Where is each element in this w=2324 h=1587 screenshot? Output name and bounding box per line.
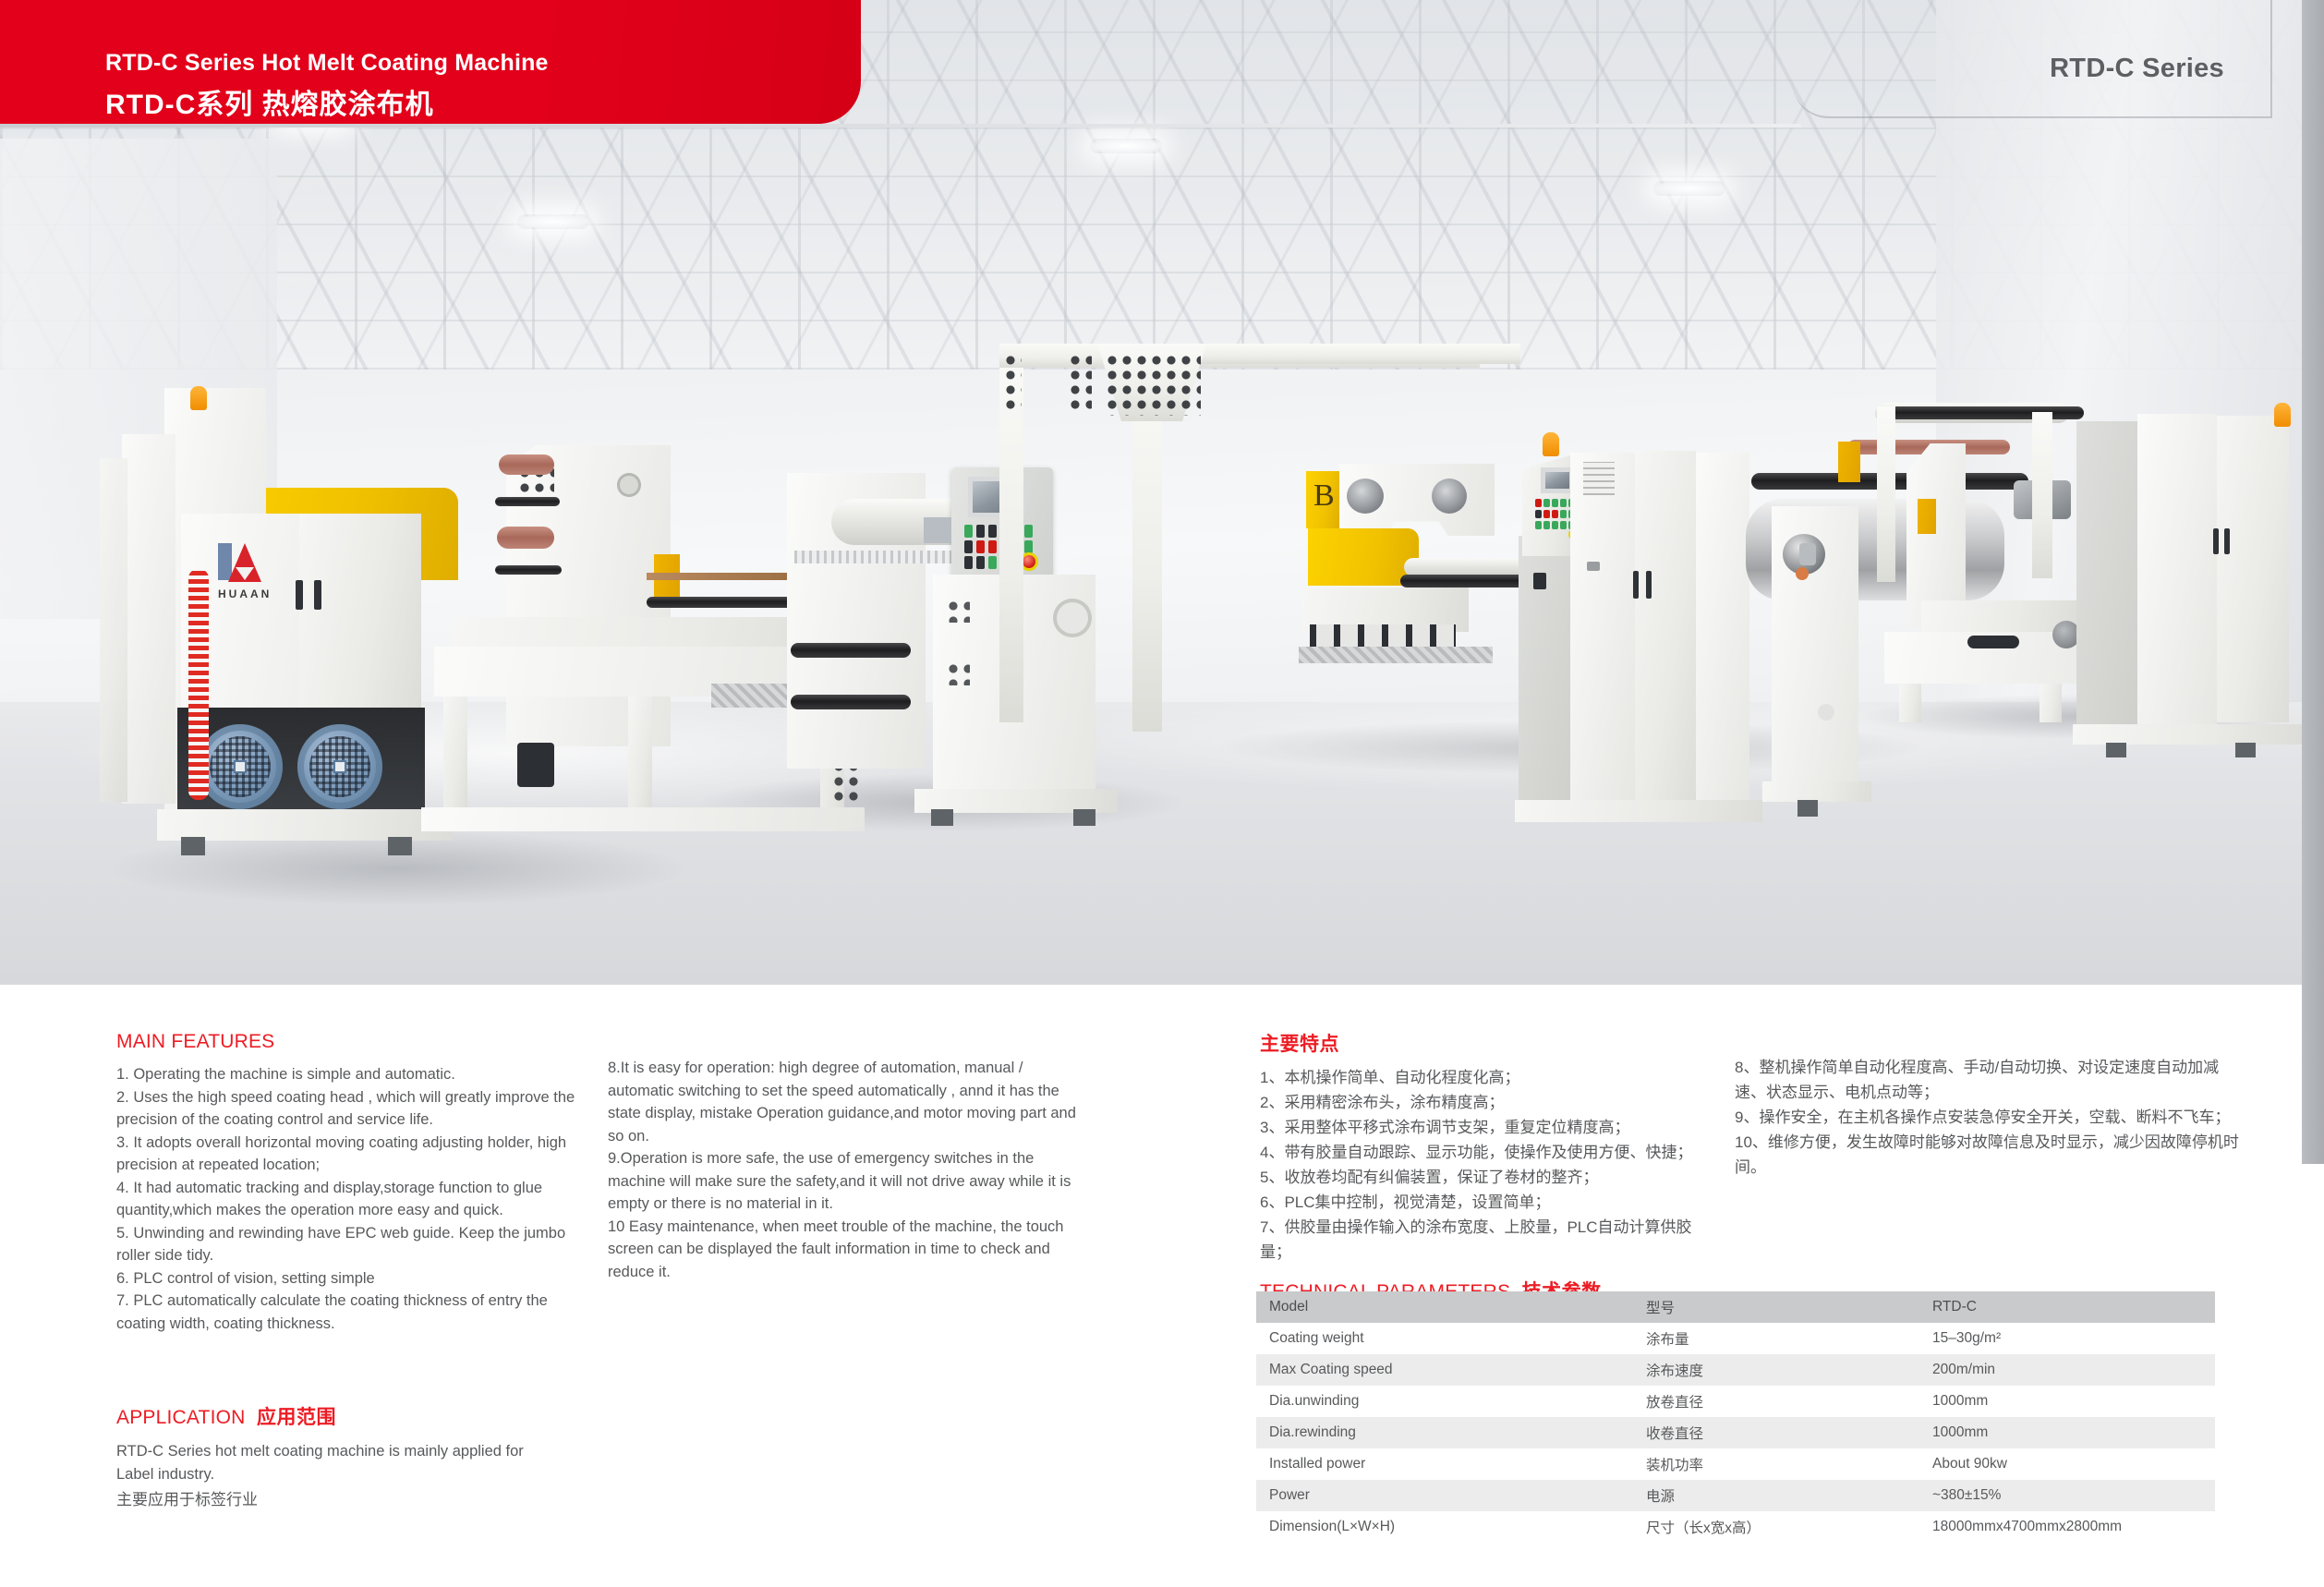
cabinet-button[interactable]	[1543, 499, 1550, 507]
table-cell-label-cn: 型号	[1633, 1291, 1919, 1323]
feature-item: 6. PLC control of vision, setting simple	[116, 1267, 578, 1290]
banner-title-en: RTD-C Series Hot Melt Coating Machine	[105, 50, 549, 77]
base-frame-leg	[1899, 684, 1921, 722]
feature-item-cn: 10、维修方便，发生故障时能够对故障信息及时显示，减少因故障停机时间。	[1735, 1130, 2246, 1180]
feature-item: 10 Easy maintenance, when meet trouble o…	[608, 1216, 1090, 1284]
walkway-grating	[1299, 647, 1493, 663]
cabinet-button[interactable]	[1535, 499, 1542, 507]
hmi-button[interactable]	[976, 540, 985, 553]
gantry-bolts	[1105, 353, 1201, 416]
main-features-list-left: 1. Operating the machine is simple and a…	[116, 1063, 578, 1335]
nip-roller	[791, 643, 911, 658]
rewind-base	[1762, 781, 1871, 802]
feature-item-cn: 5、收放卷均配有纠偏装置，保证了卷材的整齐；	[1260, 1165, 1722, 1190]
gearbox	[517, 743, 554, 787]
table-row: Max Coating speed 涂布速度 200m/min	[1256, 1354, 2215, 1386]
application-text-en: RTD-C Series hot melt coating machine is…	[116, 1440, 551, 1485]
tech-params-table: Model 型号 RTD-C Coating weight 涂布量 15–30g…	[1256, 1291, 2215, 1543]
table-cell-value: 200m/min	[1919, 1354, 2215, 1386]
table-cell-value: RTD-C	[1919, 1291, 2215, 1323]
cabinet-button[interactable]	[1560, 499, 1567, 507]
table-cell-label-cn: 收卷直径	[1633, 1417, 1919, 1448]
banner-underline	[0, 124, 1801, 127]
end-cabinet-door-1[interactable]	[2137, 414, 2217, 724]
feature-item-cn: 7、供胶量由操作输入的涂布宽度、上胶量，PLC自动计算供胶量；	[1260, 1215, 1722, 1265]
table-cell-label-en: Model	[1256, 1291, 1633, 1323]
table-row: Coating weight 涂布量 15–30g/m²	[1256, 1323, 2215, 1354]
base-frame-leg	[628, 697, 652, 817]
cabinet-button[interactable]	[1560, 521, 1567, 529]
table-cell-label-en: Installed power	[1256, 1448, 1633, 1480]
ceiling-lamp	[1653, 181, 1725, 196]
cabinet-handle[interactable]	[2213, 528, 2219, 554]
table-cell-label-cn: 尺寸（长x宽x高）	[1633, 1511, 1919, 1543]
feature-item: 8.It is easy for operation: high degree …	[608, 1057, 1090, 1147]
sensor-box-yellow	[1838, 442, 1860, 482]
frame-bolts	[946, 661, 970, 685]
cabinet-touchscreen[interactable]	[1541, 467, 1574, 493]
cabinet-door-1[interactable]	[1570, 453, 1635, 806]
cabinet-button[interactable]	[1535, 521, 1542, 529]
table-row: Dia.rewinding 收卷直径 1000mm	[1256, 1417, 2215, 1448]
feature-item: 5. Unwinding and rewinding have EPC web …	[116, 1222, 578, 1267]
feature-item: 1. Operating the machine is simple and a…	[116, 1063, 578, 1086]
hmi-button[interactable]	[988, 540, 997, 553]
table-row: Power 电源 ~380±15%	[1256, 1480, 2215, 1511]
cabinet-handle[interactable]	[1646, 571, 1652, 599]
machine-photo: HUAAN	[0, 0, 2324, 985]
application-text-cn: 主要应用于标签行业	[116, 1487, 615, 1512]
application-heading-en: APPLICATION	[116, 1407, 246, 1428]
cabinet-button[interactable]	[1543, 510, 1550, 518]
rear-cabinet	[122, 434, 176, 804]
table-row: Dia.unwinding 放卷直径 1000mm	[1256, 1386, 2215, 1417]
motor-hub	[234, 760, 248, 774]
motor-hub	[333, 760, 347, 774]
table-cell-label-cn: 涂布量	[1633, 1323, 1919, 1354]
frame-hole	[1818, 704, 1834, 721]
brochure-page: HUAAN	[0, 0, 2324, 1587]
hmi-button[interactable]	[988, 525, 997, 538]
feature-item: 2. Uses the high speed coating head , wh…	[116, 1086, 578, 1132]
table-row: Installed power 装机功率 About 90kw	[1256, 1448, 2215, 1480]
chuck-shaft	[1799, 543, 1816, 565]
web-roller-1	[499, 454, 554, 475]
leveling-foot	[181, 837, 205, 855]
table-cell-label-cn: 装机功率	[1633, 1448, 1919, 1480]
chuck-hub-right	[1432, 479, 1467, 514]
table-cell-label-cn: 放卷直径	[1633, 1386, 1919, 1417]
title-banner: RTD-C Series Hot Melt Coating Machine RT…	[0, 0, 861, 124]
cable-carrier	[1967, 636, 2019, 648]
table-cell-label-en: Dia.unwinding	[1256, 1386, 1633, 1417]
leveling-foot	[1073, 809, 1095, 826]
hmi-button[interactable]	[964, 525, 973, 538]
hmi-button[interactable]	[988, 556, 997, 569]
table-header-row: Model 型号 RTD-C	[1256, 1291, 2215, 1323]
cabinet-vent-grille	[1583, 462, 1615, 495]
table-row: Dimension(L×W×H) 尺寸（长x宽x高） 18000mmx4700m…	[1256, 1511, 2215, 1543]
table-cell-label-en: Dimension(L×W×H)	[1256, 1511, 1633, 1543]
end-cabinet-door-2[interactable]	[2217, 416, 2289, 722]
features-cn-list-right: 8、整机操作简单自动化程度高、手动/自动切换、对设定速度自动加减速、状态显示、电…	[1735, 1055, 2246, 1180]
table-cell-value: 18000mmx4700mmx2800mm	[1919, 1511, 2215, 1543]
hmi-button[interactable]	[964, 556, 973, 569]
table-cell-value: 15–30g/m²	[1919, 1323, 2215, 1354]
page-right-edge	[2302, 0, 2324, 1164]
blower-motor-1	[198, 724, 283, 809]
cabinet-button[interactable]	[1535, 510, 1542, 518]
cabinet-door-3[interactable]	[1696, 453, 1749, 804]
feature-item: 9.Operation is more safe, the use of eme…	[608, 1147, 1090, 1216]
feature-item-cn: 8、整机操作简单自动化程度高、手动/自动切换、对设定速度自动加减速、状态显示、电…	[1735, 1055, 2246, 1105]
turret-column	[2032, 412, 2052, 578]
end-cabinet-side	[2076, 421, 2137, 728]
warning-beacon-light	[190, 386, 207, 410]
huaan-logo-text: HUAAN	[218, 588, 283, 600]
leveling-foot	[2106, 743, 2126, 757]
feature-item-cn: 9、操作安全，在主机各操作点安装急停安全开关，空载、断料不飞车；	[1735, 1105, 2246, 1130]
nip-roller	[791, 695, 911, 709]
logo-red-arrow	[228, 543, 261, 582]
turret-column	[1877, 406, 1895, 582]
feature-item-cn: 4、带有胶量自动跟踪、显示功能，使操作及使用方便、快捷；	[1260, 1140, 1722, 1165]
ceiling-lamp	[1090, 139, 1162, 153]
cabinet-button[interactable]	[1552, 510, 1558, 518]
base-frame-leg	[443, 697, 467, 817]
base-frame-bottom	[421, 807, 865, 831]
cabinet-button[interactable]	[1552, 499, 1558, 507]
chuck-hub-left	[1347, 479, 1384, 514]
station-letter-label: B	[1313, 479, 1335, 514]
main-features-list-right: 8.It is easy for operation: high degree …	[608, 1057, 1090, 1283]
table-cell-value: 1000mm	[1919, 1386, 2215, 1417]
table-cell-value: ~380±15%	[1919, 1480, 2215, 1511]
table-cell-label-cn: 涂布速度	[1633, 1354, 1919, 1386]
cabinet-button[interactable]	[1552, 521, 1558, 529]
cabinet-handle[interactable]	[314, 580, 321, 610]
cabinet-handle[interactable]	[2224, 528, 2230, 554]
table-cell-label-en: Dia.rewinding	[1256, 1417, 1633, 1448]
web-roller-4	[495, 565, 562, 575]
power-switch[interactable]	[1533, 573, 1546, 589]
cabinet-lock[interactable]	[1587, 562, 1600, 571]
table-cell-label-en: Max Coating speed	[1256, 1354, 1633, 1386]
leveling-foot	[2235, 743, 2256, 757]
features-cn-list-left: 1、本机操作简单、自动化程度化高； 2、采用精密涂布头，涂布精度高； 3、采用整…	[1260, 1065, 1722, 1265]
hmi-button[interactable]	[1024, 525, 1033, 538]
feature-item-cn: 3、采用整体平移式涂布调节支架，重复定位精度高；	[1260, 1115, 1722, 1140]
table-cell-label-en: Power	[1256, 1480, 1633, 1511]
features-cn-heading: 主要特点	[1260, 1029, 1722, 1057]
indicator-lamp	[1796, 567, 1809, 580]
cabinet-handle[interactable]	[296, 580, 303, 610]
leveling-foot	[931, 809, 953, 826]
huaan-logo: HUAAN	[218, 541, 260, 584]
cabinet-handle[interactable]	[1633, 571, 1639, 599]
tank-cabinet-door-right	[299, 514, 421, 708]
features-cn-section: 主要特点 1、本机操作简单、自动化程度化高； 2、采用精密涂布头，涂布精度高； …	[1260, 1029, 1722, 1265]
frame-port	[617, 473, 641, 497]
feature-item-cn: 1、本机操作简单、自动化程度化高；	[1260, 1065, 1722, 1090]
base-frame-leg	[2040, 684, 2062, 722]
end-cabinet-base	[2073, 724, 2304, 745]
hmi-button[interactable]	[964, 540, 973, 553]
blower-motor-2	[297, 724, 382, 809]
web-path-roller	[1888, 406, 2084, 419]
frame-bore	[1053, 599, 1092, 637]
web-roller-2	[497, 527, 554, 549]
feature-item: 7. PLC automatically calculate the coati…	[116, 1290, 578, 1335]
application-heading: APPLICATION 应用范围	[116, 1402, 615, 1430]
feature-item-cn: 2、采用精密涂布头，涂布精度高；	[1260, 1090, 1722, 1115]
table-cell-label-cn: 电源	[1633, 1480, 1919, 1511]
series-tab-label: RTD-C Series	[2050, 54, 2224, 84]
left-unit-base	[157, 809, 453, 841]
table-cell-value: 1000mm	[1919, 1417, 2215, 1448]
table-cell-label-en: Coating weight	[1256, 1323, 1633, 1354]
hmi-button[interactable]	[1024, 540, 1033, 553]
web-roller-3	[495, 497, 560, 506]
cabinet-button[interactable]	[1560, 510, 1567, 518]
hmi-button[interactable]	[976, 525, 985, 538]
hmi-button[interactable]	[976, 556, 985, 569]
frame-bolts	[946, 599, 970, 623]
warning-beacon-light	[2274, 403, 2291, 427]
feature-item: 3. It adopts overall horizontal moving c…	[116, 1132, 578, 1177]
huaan-logo-mark	[218, 541, 260, 584]
leveling-foot	[388, 837, 412, 855]
sensor-box-yellow	[1918, 499, 1936, 534]
cabinet-door-2[interactable]	[1635, 451, 1696, 806]
gantry-bolts	[1003, 353, 1022, 410]
table-cell-value: About 90kw	[1919, 1448, 2215, 1480]
hmi-swivel-arm	[924, 517, 951, 543]
coiled-air-hose	[188, 569, 209, 800]
cabinet-button[interactable]	[1543, 521, 1550, 529]
vent-slots	[1310, 624, 1456, 647]
ceiling-lamp	[517, 214, 589, 229]
cabinet-base	[1515, 800, 1762, 822]
application-heading-cn: 应用范围	[257, 1407, 336, 1428]
rear-cabinet-side	[100, 458, 127, 802]
main-features-heading: MAIN FEATURES	[116, 1031, 578, 1053]
warning-beacon-light	[1543, 432, 1559, 456]
application-section: APPLICATION 应用范围 RTD-C Series hot melt c…	[116, 1402, 615, 1512]
banner-title-cn: RTD-C系列 热熔胶涂布机	[105, 81, 434, 122]
main-features-section: MAIN FEATURES 1. Operating the machine i…	[116, 1031, 578, 1335]
feature-item-cn: 6、PLC集中控制，视觉清楚，设置简单；	[1260, 1190, 1722, 1215]
feature-item: 4. It had automatic tracking and display…	[116, 1177, 578, 1222]
gantry-bolts	[1068, 353, 1092, 410]
leveling-foot	[1797, 800, 1818, 817]
